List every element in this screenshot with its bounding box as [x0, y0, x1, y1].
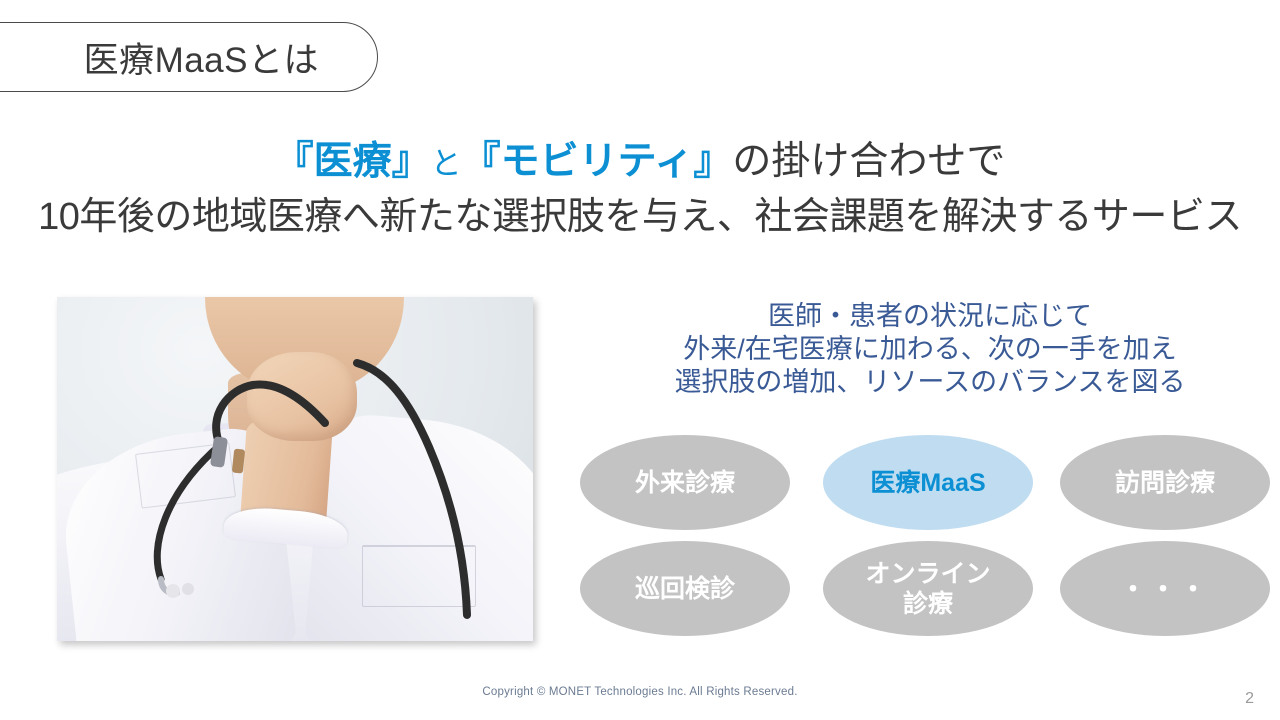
caption-line-3: 選択肢の増加、リソースのバランスを図る	[620, 366, 1240, 399]
headline-bracket-open-2: 『	[462, 140, 501, 183]
headline-connector: と	[431, 146, 462, 181]
ellipse-label: ・・・	[1120, 574, 1210, 604]
slide-canvas: 医療MaaSとは 『医療』と『モビリティ』の掛け合わせで 10年後の地域医療へ新…	[0, 0, 1280, 720]
headline-bracket-open-1: 『	[275, 140, 314, 183]
headline-block: 『医療』と『モビリティ』の掛け合わせで 10年後の地域医療へ新たな選択肢を与え、…	[0, 136, 1280, 244]
ellipse-label: 巡回検診	[635, 574, 735, 604]
ellipse-more[interactable]: ・・・	[1060, 541, 1270, 636]
caption-line-1: 医師・患者の状況に応じて	[620, 300, 1240, 333]
copyright-text: Copyright © MONET Technologies Inc. All …	[0, 686, 1280, 698]
caption-block: 医師・患者の状況に応じて 外来/在宅医療に加わる、次の一手を加え 選択肢の増加、…	[620, 300, 1240, 399]
ellipse-gairai-shinryo[interactable]: 外来診療	[580, 435, 790, 530]
headline-line-2: 10年後の地域医療へ新たな選択肢を与え、社会課題を解決するサービス	[0, 190, 1280, 244]
doctor-photo	[57, 297, 533, 641]
headline-line-1: 『医療』と『モビリティ』の掛け合わせで	[0, 136, 1280, 190]
page-number: 2	[1245, 690, 1254, 708]
ellipse-label: 医療MaaS	[870, 468, 985, 498]
slide-title-pill: 医療MaaSとは	[0, 22, 378, 92]
ellipse-junkai-kenshin[interactable]: 巡回検診	[580, 541, 790, 636]
photo-inner	[57, 297, 533, 641]
headline-accent-mobility: モビリティ	[501, 140, 694, 183]
headline-tail: の掛け合わせで	[732, 140, 1005, 183]
headline-accent-iryou: 医療	[314, 140, 392, 183]
page-title: 医療MaaSとは	[84, 32, 319, 83]
ellipse-homon-shinryo[interactable]: 訪問診療	[1060, 435, 1270, 530]
stethoscope-icon	[57, 297, 533, 641]
ellipse-label: オンライン 診療	[865, 559, 990, 619]
ellipse-label: 訪問診療	[1115, 468, 1215, 498]
ellipse-iryo-maas[interactable]: 医療MaaS	[823, 435, 1033, 530]
ellipse-label: 外来診療	[635, 468, 735, 498]
caption-line-2: 外来/在宅医療に加わる、次の一手を加え	[620, 333, 1240, 366]
headline-bracket-close-2: 』	[693, 140, 732, 183]
headline-bracket-close-1: 』	[392, 140, 431, 183]
ellipse-online-shinryo[interactable]: オンライン 診療	[823, 541, 1033, 636]
